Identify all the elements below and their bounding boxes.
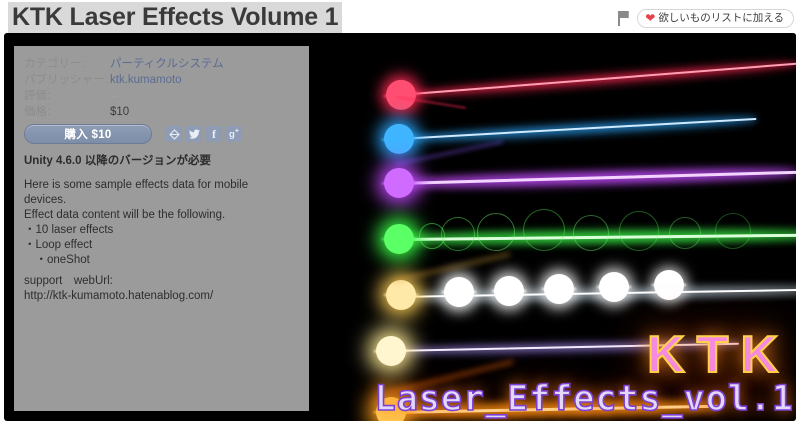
beam-blue: [397, 113, 757, 145]
sparkle-star: [494, 276, 524, 306]
watermark-title: KTK: [647, 329, 790, 381]
publisher-label: パブリッシャー:: [24, 72, 110, 88]
metadata-row-rating: 評価: –: [24, 88, 294, 104]
support-url[interactable]: http://ktk-kumamoto.hatenablog.com/: [24, 289, 296, 304]
content-area: カテゴリー: パーティクルシステム パブリッシャー: ktk.kumamoto …: [4, 33, 796, 421]
metadata-row-price: 価格: $10: [24, 104, 294, 120]
support-label: support webUrl:: [24, 274, 296, 289]
add-to-wishlist-button[interactable]: ❤ 欲しいものリストに加える: [637, 9, 794, 28]
watermark-subtitle: Laser_Effects_vol.1: [375, 382, 794, 417]
description-line: Effect data content will be the followin…: [24, 208, 296, 223]
rating-value: –: [110, 88, 116, 104]
flag-icon[interactable]: [618, 11, 630, 26]
sparkle-star: [444, 277, 474, 307]
header-actions: ❤ 欲しいものリストに加える: [618, 9, 794, 28]
sparkle-star: [654, 270, 684, 300]
social-share-group: f g+: [166, 126, 242, 142]
description-line: ・oneShot: [24, 253, 296, 268]
rating-label: 評価:: [24, 88, 110, 104]
buy-button[interactable]: 購入 $10: [24, 124, 152, 144]
product-description: Here is some sample effects data for mob…: [24, 178, 296, 268]
description-line: devices.: [24, 193, 296, 208]
page-title: KTK Laser Effects Volume 1: [8, 2, 342, 34]
page-header: KTK Laser Effects Volume 1 ❤ 欲しいものリストに加え…: [0, 0, 800, 33]
price-label: 価格:: [24, 104, 110, 120]
description-line: ・Loop effect: [24, 238, 296, 253]
metadata-row-category: カテゴリー: パーティクルシステム: [24, 56, 294, 72]
description-line: Here is some sample effects data for mob…: [24, 178, 296, 193]
beam-amber-fan: [393, 250, 511, 281]
googleplus-icon[interactable]: g+: [226, 126, 242, 142]
beam-red: [398, 57, 796, 102]
publisher-value[interactable]: ktk.kumamoto: [110, 72, 182, 88]
category-label: カテゴリー:: [24, 56, 110, 72]
sparkle-star: [544, 274, 574, 304]
heart-icon: ❤: [645, 12, 655, 24]
purchase-row: 購入 $10 f: [24, 124, 242, 144]
product-metadata: カテゴリー: パーティクルシステム パブリッシャー: ktk.kumamoto …: [24, 56, 294, 120]
category-value[interactable]: パーティクルシステム: [110, 56, 224, 72]
sparkle-star: [599, 272, 629, 302]
support-info: support webUrl: http://ktk-kumamoto.hate…: [24, 274, 296, 304]
beam-magenta: [397, 164, 796, 191]
product-preview-image: KTK Laser_Effects_vol.1: [309, 33, 796, 421]
unity-share-icon[interactable]: [166, 126, 182, 142]
metadata-row-publisher: パブリッシャー: ktk.kumamoto: [24, 72, 294, 88]
product-info-panel: カテゴリー: パーティクルシステム パブリッシャー: ktk.kumamoto …: [14, 46, 309, 411]
twitter-icon[interactable]: [186, 126, 202, 142]
wishlist-label: 欲しいものリストに加える: [658, 12, 784, 24]
product-page: KTK Laser Effects Volume 1 ❤ 欲しいものリストに加え…: [0, 0, 800, 428]
sparkle-star: [386, 280, 416, 310]
version-requirement: Unity 4.6.0 以降のバージョンが必要: [24, 152, 211, 168]
price-value: $10: [110, 104, 129, 120]
description-line: ・10 laser effects: [24, 223, 296, 238]
facebook-icon[interactable]: f: [206, 126, 222, 142]
